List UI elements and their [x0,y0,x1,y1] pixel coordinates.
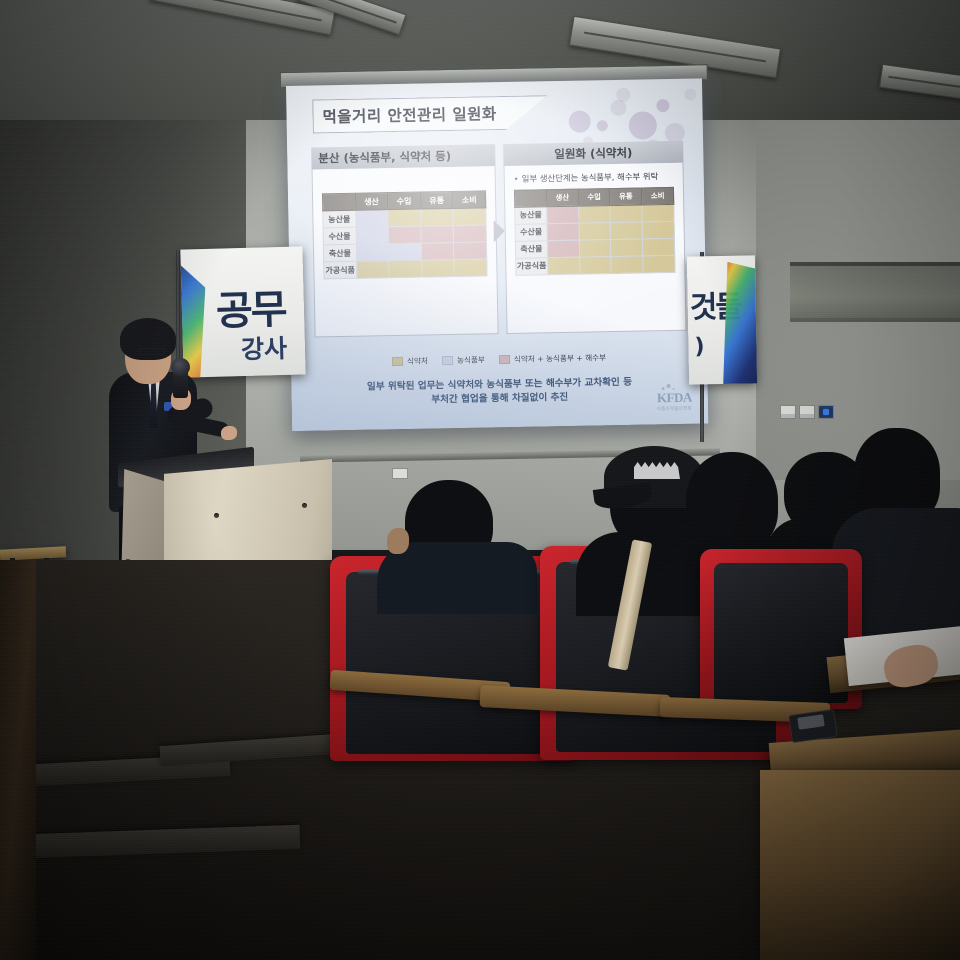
cell [611,255,643,273]
cell [547,257,579,275]
row-header-livestock: 축산물 [323,244,356,262]
brand-subtitle: 식품의약품안전청 [657,406,693,413]
table-corner-cell [514,189,546,207]
row-header-processed: 가공식품 [324,261,357,279]
col-header-import: 수입 [388,192,421,210]
cell [356,244,389,262]
cell [356,227,389,245]
presenter-hand-gesture [221,426,237,440]
legend-swatch-mafra [442,356,453,365]
legend-item: 식약처 [392,355,428,367]
row-header-agricultural: 농산물 [515,206,547,224]
cell [355,210,388,228]
presentation-slide: 먹을거리 안전관리 일원화 분산 (농식품부, 식약처 등) 생산 [286,78,708,431]
cell [579,256,611,274]
col-header-consumption: 소비 [642,187,674,205]
cell [579,239,611,257]
cell [642,204,674,222]
table-decentralized: 생산 수입 유통 소비 농산물 [322,190,488,279]
legend-swatch-mfds [392,357,403,366]
slide-panels: 분산 (농식품부, 식약처 등) 생산 수입 유통 소비 [311,141,687,348]
cell [547,240,579,258]
panel-decentralized: 분산 (농식품부, 식약처 등) 생산 수입 유통 소비 [311,144,499,347]
cell [453,208,486,226]
brand-name: KFDA [656,390,692,407]
row-header-processed: 가공식품 [516,257,548,275]
wall-soffit-beam [790,262,960,322]
cell [454,242,487,260]
audience-member-1 [385,480,525,610]
cell [388,209,421,227]
col-header-production: 생산 [546,189,578,207]
panel-unified: 일원화 (식약처) 일부 생산단계는 농식품부, 해수부 위탁 생산 수입 유통… [503,141,687,344]
projection-screen-assembly: 먹을거리 안전관리 일원화 분산 (농식품부, 식약처 등) 생산 [286,78,708,431]
row-header-marine: 수산물 [515,223,547,241]
slide-title-banner: 먹을거리 안전관리 일원화 [312,95,548,133]
cell [642,221,674,239]
cell [547,206,579,224]
cell [578,205,610,223]
av-status-indicator[interactable] [818,405,834,419]
microphone-head-icon [171,358,190,376]
cell [643,255,675,273]
table-unified: 생산 수입 유통 소비 농산물 [514,186,676,275]
panel-right-bullet: 일부 생산단계는 농식품부, 해수부 위탁 [514,171,674,184]
legend-swatch-combined [499,355,510,364]
legend-label: 식약처 [407,355,428,366]
table-row: 가공식품 [324,259,487,279]
cell [643,238,675,256]
audience-hand [387,528,409,554]
slide-title: 먹을거리 안전관리 일원화 [322,102,497,127]
cell [421,242,454,260]
projection-screen: 먹을거리 안전관리 일원화 분산 (농식품부, 식약처 등) 생산 [286,78,708,431]
row-header-agricultural: 농산물 [323,210,356,228]
col-header-distribution: 유통 [420,191,453,209]
cell [356,261,389,279]
transition-arrow-icon [493,220,504,242]
wall-outlet[interactable] [392,468,408,479]
slide-footnote: 일부 위탁된 업무는 식약처와 농식품부 또는 해수부가 교차확인 등 부처간 … [291,374,707,409]
cell [610,204,642,222]
banner-right: 것들 ) [687,255,757,384]
cell [611,238,643,256]
cell [389,260,422,278]
light-switch-1[interactable] [780,405,796,419]
cell [421,225,454,243]
podium-screw-left [214,513,219,518]
lecture-hall-scene: 먹을거리 안전관리 일원화 분산 (농식품부, 식약처 등) 생산 [0,0,960,960]
cell [547,223,579,241]
slide-brand-logo: KFDA 식품의약품안전청 [656,390,692,413]
cell [421,208,454,226]
col-header-production: 생산 [355,193,388,211]
table-row: 가공식품 [516,255,675,275]
col-header-import: 수입 [578,188,610,206]
panel-left-body: 생산 수입 유통 소비 농산물 [312,166,499,337]
stair-railing-post [0,560,36,960]
cell [610,221,642,239]
legend-item: 식약처 + 농식품부 + 해수부 [499,352,606,365]
cell [454,259,487,277]
row-header-marine: 수산물 [323,227,356,245]
wall-control-panel[interactable] [780,405,834,419]
cell [421,259,454,277]
row-header-livestock: 축산물 [515,240,547,258]
cell [388,226,421,244]
cell [453,225,486,243]
banner-right-ribbon [721,261,757,384]
podium-screw-right [302,503,307,508]
light-switch-2[interactable] [799,405,815,419]
presenter-glasses [139,348,165,355]
legend-item: 농식품부 [442,354,485,366]
cell [389,243,422,261]
legend-label: 식약처 + 농식품부 + 해수부 [514,352,606,365]
seat-cushion [714,563,848,703]
banner-left-line-2: 강사 [240,329,287,366]
col-header-distribution: 유통 [610,188,642,206]
slide-legend: 식약처 농식품부 식약처 + 농식품부 + 해수부 [291,350,707,369]
col-header-consumption: 소비 [453,191,486,209]
cell [579,222,611,240]
legend-label: 농식품부 [457,354,485,366]
banner-right-line-2: ) [694,334,704,359]
table-corner-cell [322,193,355,211]
foreground-desk-front [760,770,960,960]
panel-right-body: 일부 생산단계는 농식품부, 해수부 위탁 생산 수입 유통 소비 [504,163,687,334]
